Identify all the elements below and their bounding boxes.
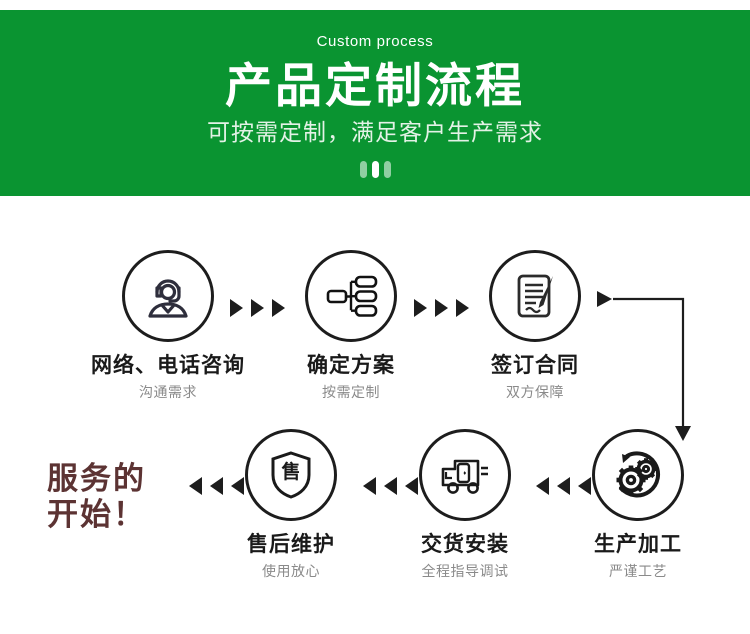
- step-label: 交货安装: [370, 534, 560, 555]
- step-icon-circle: 售: [245, 429, 337, 521]
- step-label: 生产加工: [543, 534, 733, 555]
- step-label: 网络、电话咨询: [73, 355, 263, 376]
- three-bars-icon: [360, 161, 391, 178]
- elbow-arrow-icon: [595, 288, 695, 443]
- flow-step-production[interactable]: 生产加工 严谨工艺: [543, 429, 733, 578]
- gears-icon: [609, 446, 667, 504]
- page-title: 产品定制流程: [225, 61, 525, 110]
- step-icon-circle: [592, 429, 684, 521]
- step-sublabel: 全程指导调试: [370, 564, 560, 578]
- flow-step-consultation[interactable]: 网络、电话咨询 沟通需求: [73, 250, 263, 399]
- start-badge: 服务的 开始！: [47, 461, 187, 533]
- step-icon-circle: [122, 250, 214, 342]
- step-sublabel: 使用放心: [196, 564, 386, 578]
- step-sublabel: 按需定制: [256, 385, 446, 399]
- person-headset-icon: [140, 268, 196, 324]
- step-sublabel: 沟通需求: [73, 385, 263, 399]
- banner-subtitle: 可按需定制，满足客户生产需求: [207, 121, 543, 144]
- step-icon-circle: [419, 429, 511, 521]
- header-banner: Custom process 产品定制流程 可按需定制，满足客户生产需求: [0, 10, 750, 196]
- banner-eyebrow: Custom process: [317, 34, 434, 49]
- process-flow: 网络、电话咨询 沟通需求 确定方案 按需定制: [0, 196, 750, 634]
- step-icon-circle: [305, 250, 397, 342]
- flow-step-plan[interactable]: 确定方案 按需定制: [256, 250, 446, 399]
- flow-step-aftersales[interactable]: 售 售后维护 使用放心: [196, 429, 386, 578]
- shield-service-icon: 售: [263, 447, 319, 503]
- org-chart-icon: [323, 268, 379, 324]
- step-icon-circle: [489, 250, 581, 342]
- start-badge-line1: 服务的: [47, 461, 187, 497]
- flow-step-delivery[interactable]: 交货安装 全程指导调试: [370, 429, 560, 578]
- step-sublabel: 严谨工艺: [543, 564, 733, 578]
- start-badge-line2: 开始！: [47, 497, 187, 533]
- triangle-right-icon: [230, 299, 243, 317]
- contract-pen-icon: [507, 268, 563, 324]
- triangle-right-icon: [414, 299, 427, 317]
- step-label: 售后维护: [196, 534, 386, 555]
- delivery-truck-icon: [437, 447, 493, 503]
- shield-glyph: 售: [280, 460, 300, 483]
- step-label: 确定方案: [256, 355, 446, 376]
